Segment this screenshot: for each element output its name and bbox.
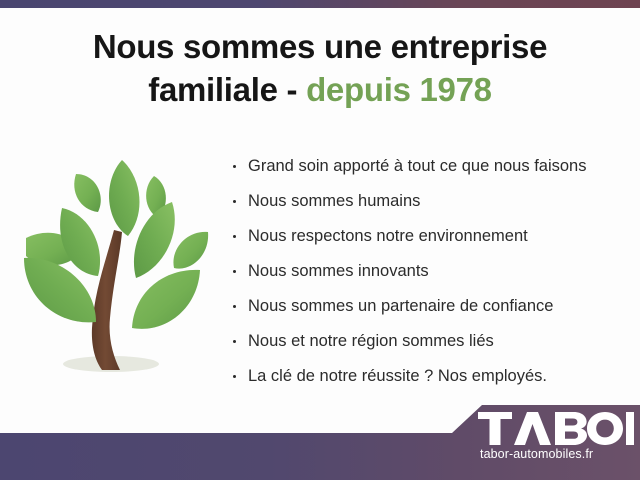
list-item: Nous respectons notre environnement — [231, 222, 631, 257]
list-item: Nous sommes humains — [231, 187, 631, 222]
tree-leaf-6 — [134, 202, 175, 278]
page-title-prefix: familiale — [148, 71, 277, 108]
top-accent-strip — [0, 0, 640, 8]
slide-root: Nous sommes une entreprise familiale - d… — [0, 0, 640, 480]
footer-band-shape — [0, 405, 640, 480]
benefits-list: Grand soin apporté à tout ce que nous fa… — [231, 152, 631, 397]
tree-leaf-9 — [132, 270, 200, 329]
list-item: Nous et notre région sommes liés — [231, 327, 631, 362]
list-item: Nous sommes innovants — [231, 257, 631, 292]
page-title-line-2: familiale - depuis 1978 — [0, 69, 640, 112]
tree-illustration — [14, 152, 214, 387]
page-title-line-1: Nous sommes une entreprise — [0, 26, 640, 69]
list-item: Grand soin apporté à tout ce que nous fa… — [231, 152, 631, 187]
footer-band — [0, 395, 640, 480]
page-title-dash: - — [278, 71, 306, 108]
list-item: Nous sommes un partenaire de confiance — [231, 292, 631, 327]
tree-leaf-7 — [173, 232, 208, 269]
tree-leaf-2 — [60, 208, 100, 276]
list-item: La clé de notre réussite ? Nos employés. — [231, 362, 631, 397]
page-title-accent: depuis 1978 — [306, 71, 492, 108]
tree-leaf-3 — [74, 174, 101, 212]
tree-leaf-4 — [109, 160, 139, 236]
page-title: Nous sommes une entreprise familiale - d… — [0, 26, 640, 111]
